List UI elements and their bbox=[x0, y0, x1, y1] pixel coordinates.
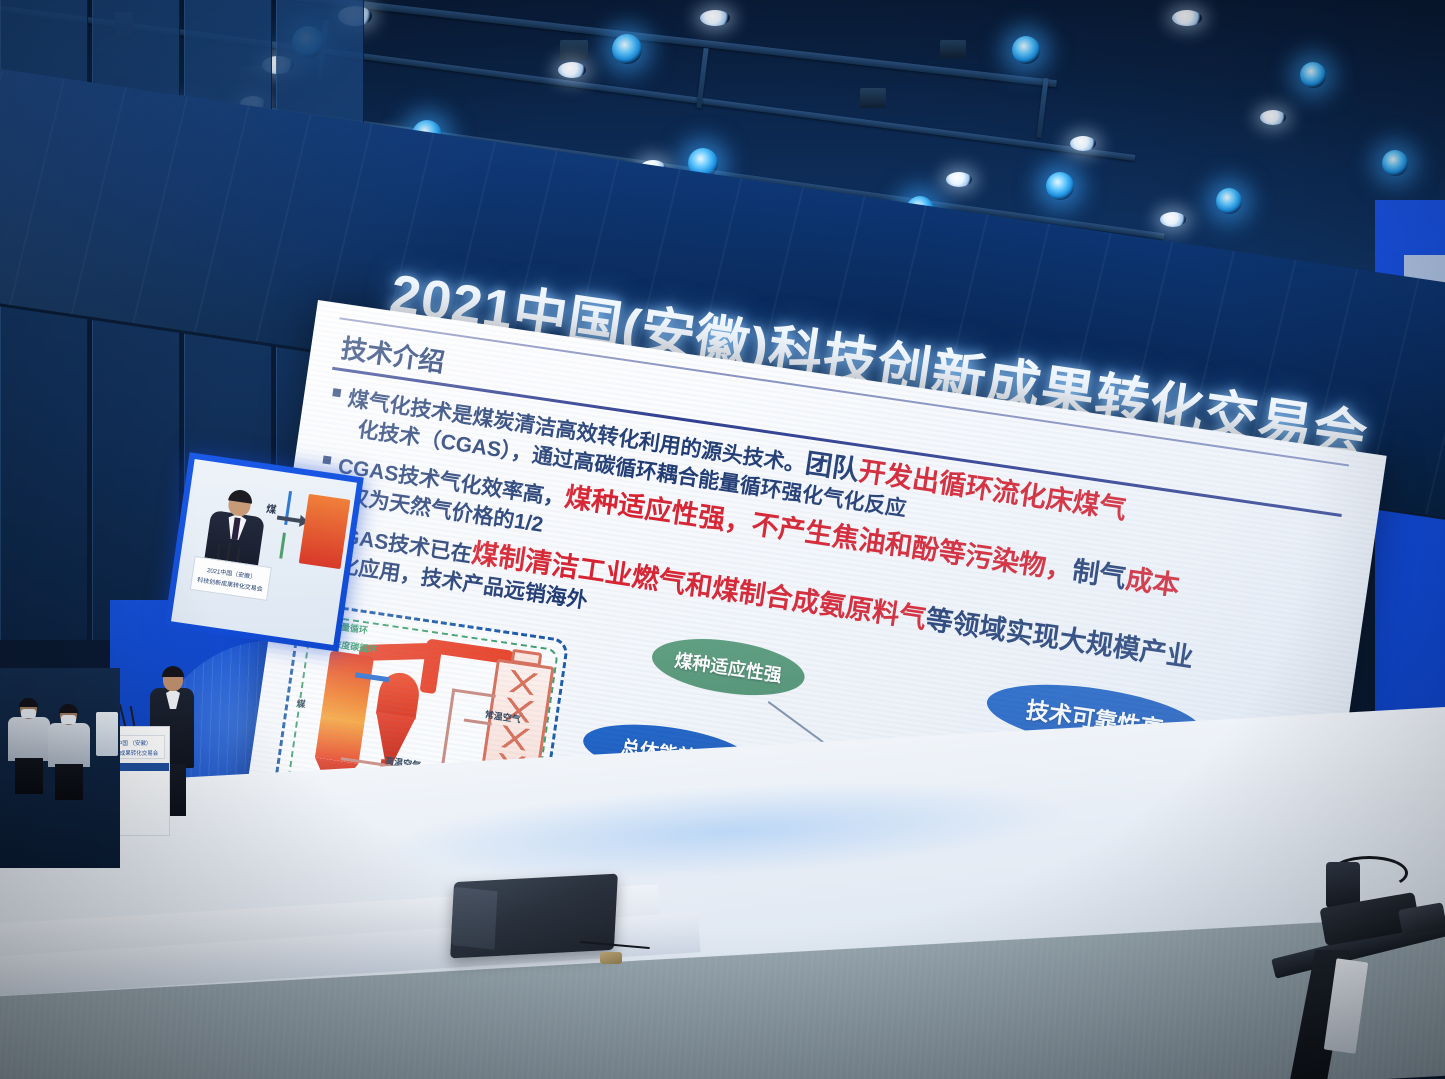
label-coal: 煤 bbox=[296, 696, 307, 710]
feed-podium: 2021中国（安徽） 科技创新成果转化交易会 bbox=[190, 556, 272, 601]
packing-layer bbox=[496, 668, 551, 697]
feed-accent-bar bbox=[279, 533, 286, 559]
light-fixture bbox=[940, 40, 966, 58]
light-fixture bbox=[860, 88, 886, 108]
wall-sign bbox=[96, 712, 118, 756]
advantage-node-1-label: 煤种适应性强 bbox=[673, 646, 784, 687]
light-fixture bbox=[560, 40, 588, 60]
side-monitor: 煤 2021中国（安徽） 科技创新成果转化交易会 bbox=[164, 452, 364, 652]
feed-reactor-shape bbox=[299, 494, 351, 569]
stage-light bbox=[700, 10, 730, 26]
monitor-speaker-face bbox=[451, 887, 498, 950]
staff-body bbox=[48, 723, 90, 767]
stage-light bbox=[1260, 110, 1286, 125]
staff-hair bbox=[59, 704, 78, 713]
stage-monitor-speaker bbox=[450, 874, 618, 959]
packing-layer bbox=[488, 723, 543, 752]
camera-pan-head bbox=[1326, 862, 1360, 908]
truss-vertical bbox=[1036, 78, 1048, 138]
bullet-1-text-b: 团队 bbox=[803, 448, 861, 485]
speaker-hair bbox=[162, 666, 184, 677]
staff-person bbox=[48, 706, 90, 798]
bullet-2-text-d: 成本 bbox=[1124, 564, 1182, 601]
conference-stage-photo: 2021中国(安徽)科技创新成果转化交易会 技术介绍 煤气化技术是煤炭清洁高效转… bbox=[0, 0, 1445, 1079]
stage-light bbox=[1172, 10, 1202, 26]
cable-connector bbox=[600, 952, 622, 964]
stage-light bbox=[1070, 136, 1096, 151]
staff-legs bbox=[55, 764, 83, 800]
stage-light bbox=[612, 34, 642, 64]
stage-light bbox=[1300, 62, 1326, 88]
face-mask-icon bbox=[21, 709, 36, 718]
staff-hair bbox=[19, 698, 38, 707]
feed-arrow-icon bbox=[277, 516, 301, 523]
stage-light bbox=[558, 62, 586, 78]
face-mask-icon bbox=[61, 715, 76, 724]
staff-body bbox=[8, 717, 50, 761]
stage-light bbox=[1012, 36, 1040, 64]
side-monitor-feed: 煤 2021中国（安徽） 科技创新成果转化交易会 bbox=[171, 459, 357, 645]
staff-person bbox=[8, 700, 50, 792]
bullet-2-text-c: 制气 bbox=[1070, 556, 1128, 593]
staff-legs bbox=[15, 758, 43, 794]
